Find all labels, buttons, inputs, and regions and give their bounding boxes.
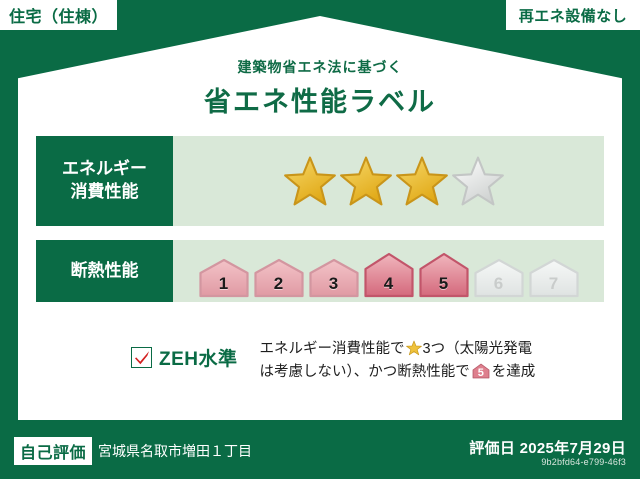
house-grade-2: 2 [253, 258, 305, 298]
house-grade-scale: 1234567 [198, 252, 580, 298]
house-grade-4: 4 [363, 252, 415, 298]
star-icon-inline [406, 340, 422, 356]
evaluation-date: 評価日 2025年7月29日 [469, 437, 626, 458]
energy-consumption-label: エネルギー 消費性能 [36, 136, 173, 226]
zeh-desc-star-count: 3つ（太陽光発電 [423, 341, 533, 357]
house-grade-number: 3 [308, 274, 360, 294]
house-grade-3: 3 [308, 258, 360, 298]
energy-label-line1: エネルギー [62, 158, 147, 181]
insulation-performance-rating: 1234567 [173, 240, 604, 302]
property-address: 宮城県名取市増田１丁目 [98, 441, 252, 461]
evaluation-date-value: 2025年7月29日 [520, 440, 626, 457]
zeh-mark: ZEH水準 [131, 338, 238, 371]
star-icon-filled [395, 155, 449, 207]
star-icon-empty [451, 155, 505, 207]
zeh-desc-part1: エネルギー消費性能で [260, 341, 405, 357]
zeh-label: ZEH水準 [159, 344, 238, 371]
house-grade-7: 7 [528, 258, 580, 298]
house-grade-number: 7 [528, 274, 580, 294]
self-evaluation-badge: 自己評価 [14, 437, 92, 465]
grade-badge-inline: 5 [472, 363, 490, 379]
badge-renewable-energy: 再エネ設備なし [506, 0, 640, 30]
zeh-desc-part3: を達成 [492, 364, 536, 380]
insulation-performance-row: 断熱性能 1234567 [36, 240, 604, 302]
label-title: 省エネ性能ラベル [0, 80, 640, 119]
zeh-description: エネルギー消費性能で3つ（太陽光発電は考慮しない）、かつ断熱性能で5を達成 [260, 338, 536, 385]
house-grade-6: 6 [473, 258, 525, 298]
zeh-section: ZEH水準 エネルギー消費性能で3つ（太陽光発電は考慮しない）、かつ断熱性能で5… [36, 338, 604, 385]
house-grade-number: 1 [198, 274, 250, 294]
house-grade-5: 5 [418, 252, 470, 298]
evaluation-date-label: 評価日 [469, 440, 515, 457]
house-grade-number: 2 [253, 274, 305, 294]
energy-consumption-rating [173, 136, 604, 226]
footer: 自己評価 宮城県名取市増田１丁目 評価日 2025年7月29日 9b2bfd64… [0, 432, 640, 479]
house-grade-number: 6 [473, 274, 525, 294]
star-icon-filled [339, 155, 393, 207]
zeh-desc-part2: は考慮しない）、かつ断熱性能で [260, 364, 470, 380]
house-grade-1: 1 [198, 258, 250, 298]
energy-consumption-row: エネルギー 消費性能 [36, 136, 604, 226]
check-icon [133, 348, 152, 367]
zeh-checkbox [131, 347, 152, 368]
star-rating [283, 155, 505, 207]
star-icon-filled [283, 155, 337, 207]
grade-badge-number: 5 [472, 367, 490, 379]
house-grade-number: 5 [418, 274, 470, 294]
energy-performance-label: 住宅（住棟） 再エネ設備なし 建築物省エネ法に基づく 省エネ性能ラベル エネルギ… [0, 0, 640, 479]
energy-label-line2: 消費性能 [71, 181, 139, 204]
insulation-performance-label: 断熱性能 [36, 240, 173, 302]
badge-building-type: 住宅（住棟） [0, 0, 117, 30]
house-grade-number: 4 [363, 274, 415, 294]
document-hash: 9b2bfd64-e799-46f3 [541, 457, 626, 467]
label-subtitle: 建築物省エネ法に基づく [0, 57, 640, 77]
